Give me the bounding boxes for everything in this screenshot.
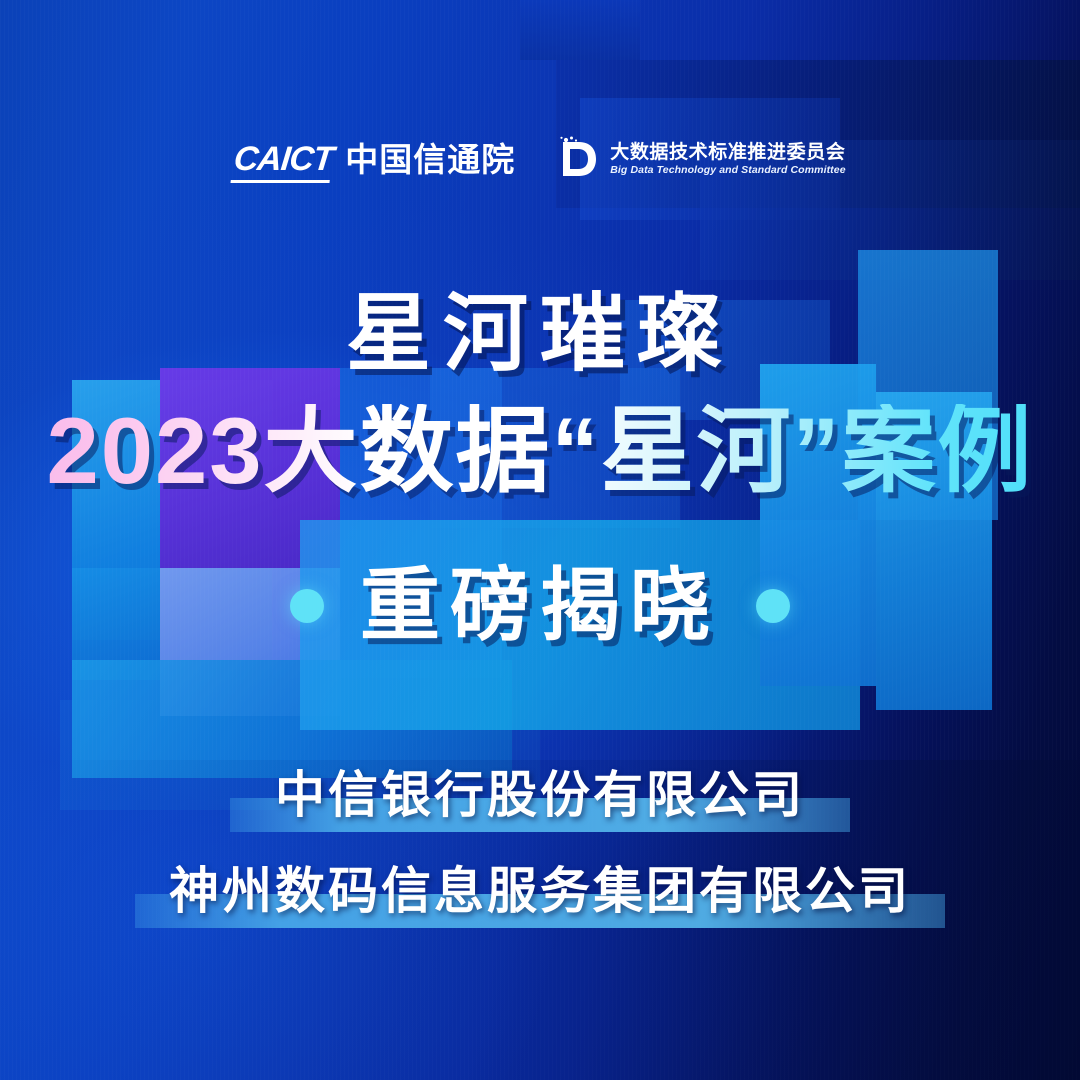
title-line-3-row: 重磅揭晓	[0, 566, 1080, 646]
bg-block-top-right-4	[520, 0, 640, 60]
cyan-dot-icon-left	[290, 589, 324, 623]
big-data-d-logo-icon	[557, 136, 599, 182]
winner-item: 中信银行股份有限公司	[0, 770, 1080, 820]
big-data-committee-name-en: Big Data Technology and Standard Committ…	[610, 165, 845, 176]
caict-logo: CAICT 中国信通院	[234, 142, 515, 176]
big-data-committee-logo: 大数据技术标准推进委员会 Big Data Technology and Sta…	[557, 136, 845, 182]
poster-canvas: CAICT 中国信通院 大数据技术标准推进委员会 Big Data Techno…	[0, 0, 1080, 1080]
caict-wordmark-icon: CAICT	[233, 142, 335, 176]
winner-name: 神州数码信息服务集团有限公司	[169, 863, 911, 919]
winner-name: 中信银行股份有限公司	[275, 767, 805, 823]
caict-name-cn: 中国信通院	[345, 143, 515, 176]
big-data-committee-text: 大数据技术标准推进委员会 Big Data Technology and Sta…	[610, 143, 845, 176]
title-line-1: 星河璀璨	[0, 292, 1080, 377]
title-line-2: 2023大数据“星河”案例	[0, 404, 1080, 498]
winner-list: 中信银行股份有限公司 神州数码信息服务集团有限公司	[0, 770, 1080, 916]
title-line-3: 重磅揭晓	[360, 566, 720, 646]
big-data-committee-name-cn: 大数据技术标准推进委员会	[610, 143, 845, 162]
logo-header: CAICT 中国信通院 大数据技术标准推进委员会 Big Data Techno…	[0, 136, 1080, 182]
winner-item: 神州数码信息服务集团有限公司	[0, 866, 1080, 916]
cyan-dot-icon-right	[756, 589, 790, 623]
